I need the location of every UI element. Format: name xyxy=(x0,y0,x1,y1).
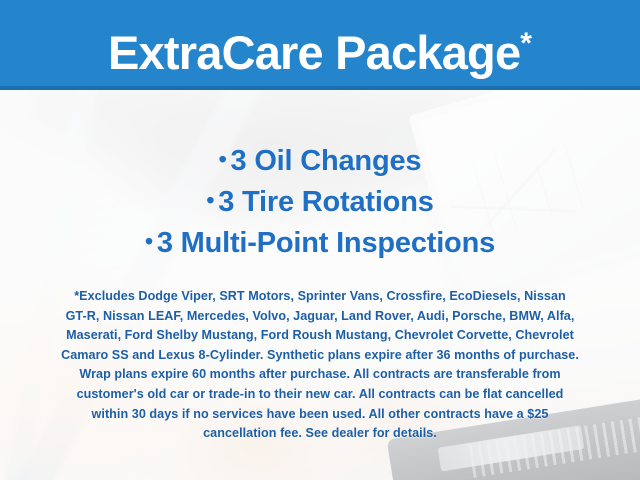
list-item-label: 3 Multi-Point Inspections xyxy=(157,227,495,259)
list-item-label: 3 Tire Rotations xyxy=(218,186,433,218)
disclaimer-line: Camaro SS and Lexus 8-Cylinder. Syntheti… xyxy=(22,346,618,366)
disclaimer-line: customer's old car or trade-in to their … xyxy=(22,385,618,405)
list-item-label: 3 Oil Changes xyxy=(231,145,422,177)
bullet-dot-icon: • xyxy=(206,187,218,213)
bullet-dot-icon: • xyxy=(219,146,231,172)
list-item: •3 Oil Changes xyxy=(0,140,640,181)
page-title: ExtraCare Package* xyxy=(0,13,640,84)
header-banner: ExtraCare Package* xyxy=(0,0,640,90)
list-item: •3 Multi-Point Inspections xyxy=(0,222,640,263)
page-title-asterisk: * xyxy=(520,27,532,60)
disclaimer-line: within 30 days if no services have been … xyxy=(22,405,618,425)
disclaimer-line: Wrap plans expire 60 months after purcha… xyxy=(22,365,618,385)
disclaimer-line: GT-R, Nissan LEAF, Mercedes, Volvo, Jagu… xyxy=(22,307,618,327)
disclaimer-text: *Excludes Dodge Viper, SRT Motors, Sprin… xyxy=(22,287,618,444)
disclaimer-line: *Excludes Dodge Viper, SRT Motors, Sprin… xyxy=(22,287,618,307)
benefits-list: •3 Oil Changes •3 Tire Rotations •3 Mult… xyxy=(0,140,640,263)
bullet-dot-icon: • xyxy=(145,228,157,254)
list-item: •3 Tire Rotations xyxy=(0,181,640,222)
extracare-package-graphic: ExtraCare Package* •3 Oil Changes •3 Tir… xyxy=(0,0,640,480)
disclaimer-line: Maserati, Ford Shelby Mustang, Ford Rous… xyxy=(22,326,618,346)
page-title-text: ExtraCare Package xyxy=(108,26,520,79)
banner-bottom-edge xyxy=(0,86,640,90)
disclaimer-line: cancellation fee. See dealer for details… xyxy=(22,424,618,444)
